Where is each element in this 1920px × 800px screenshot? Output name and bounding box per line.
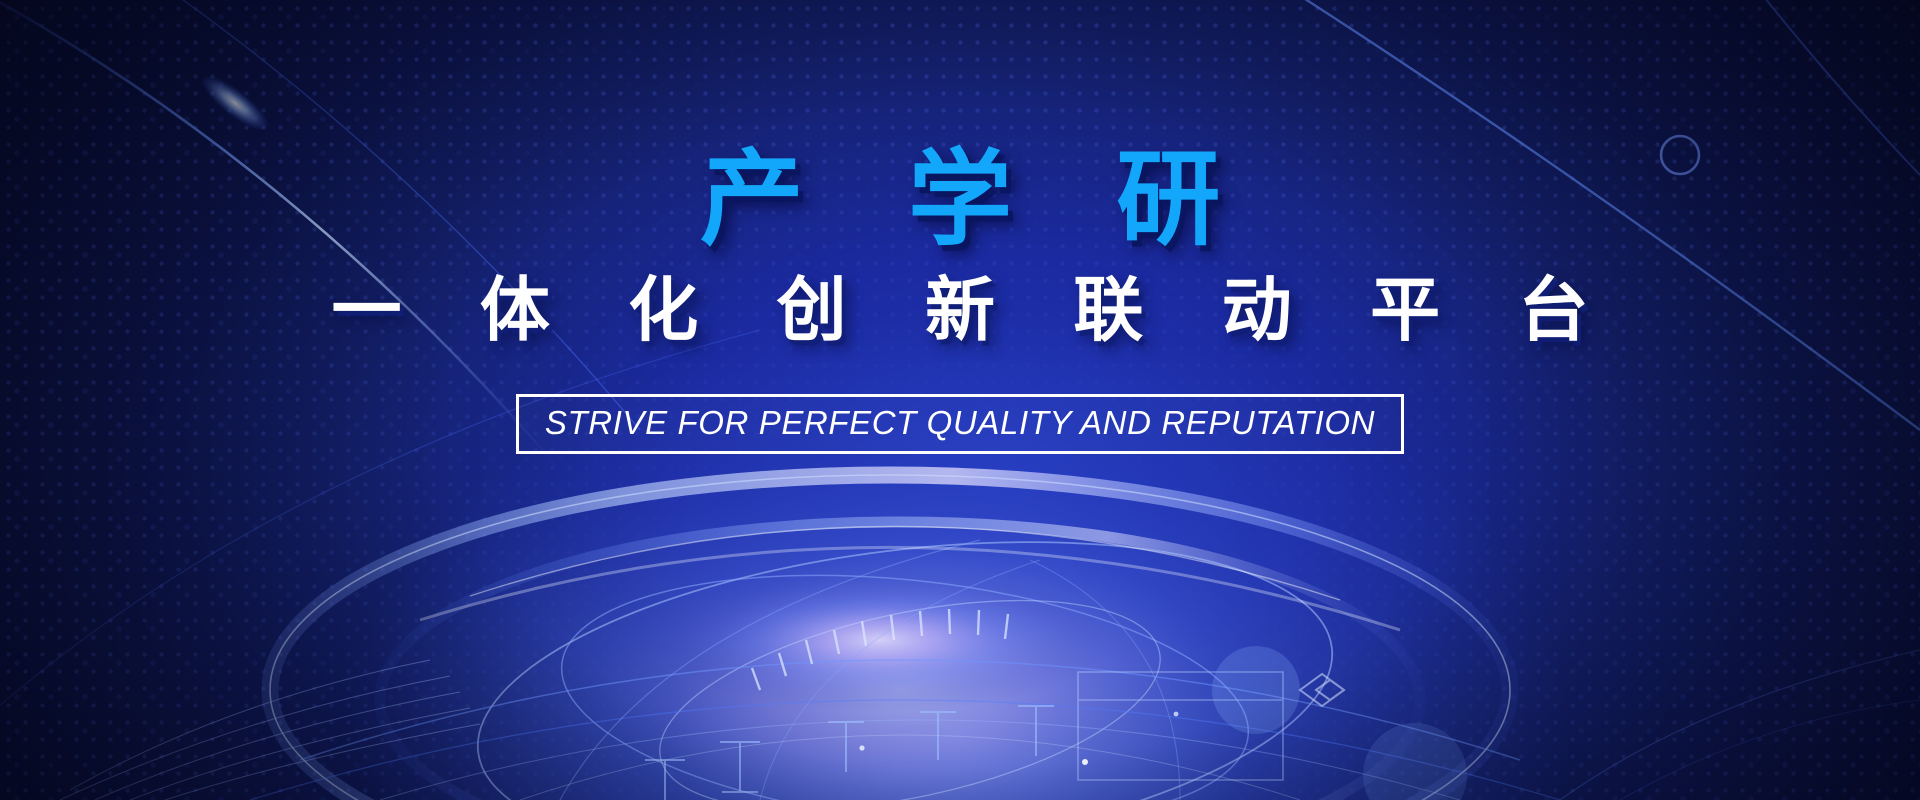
banner-content: 产 学 研 一 体 化 创 新 联 动 平 台 STRIVE FOR PERFE…: [0, 0, 1920, 800]
subtitle-box: STRIVE FOR PERFECT QUALITY AND REPUTATIO…: [516, 394, 1404, 454]
banner-subtitle-english: STRIVE FOR PERFECT QUALITY AND REPUTATIO…: [545, 404, 1375, 442]
banner-title-primary: 产 学 研: [666, 146, 1254, 252]
banner-title-secondary: 一 体 化 创 新 联 动 平 台: [305, 274, 1616, 348]
hero-banner: 产 学 研 一 体 化 创 新 联 动 平 台 STRIVE FOR PERFE…: [0, 0, 1920, 800]
